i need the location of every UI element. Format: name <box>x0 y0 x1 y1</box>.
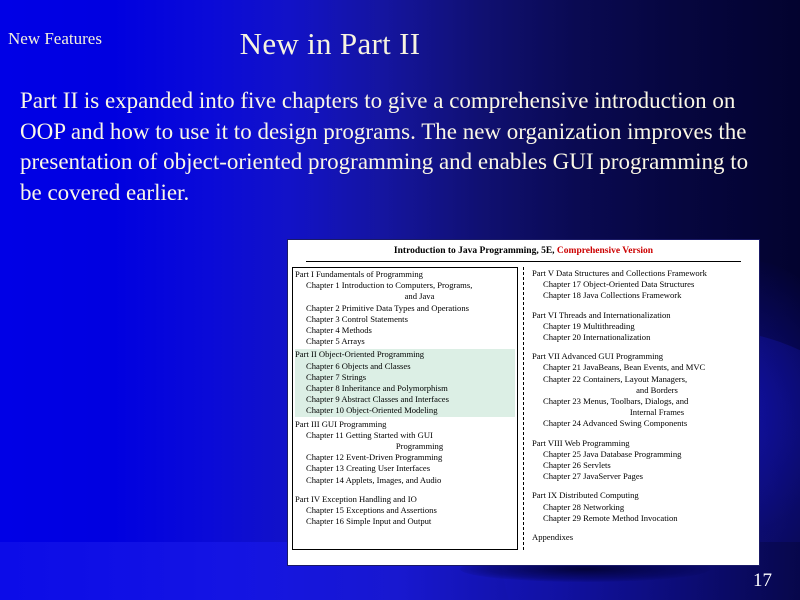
toc-columns: Part I Fundamentals of ProgrammingChapte… <box>288 267 759 550</box>
toc-part-block: Part IX Distributed ComputingChapter 28 … <box>532 490 753 524</box>
toc-chapter-entry: Chapter 18 Java Collections Framework <box>532 290 753 301</box>
toc-chapter-entry: Chapter 16 Simple Input and Output <box>295 516 515 527</box>
toc-chapter-entry: Chapter 15 Exceptions and Assertions <box>295 505 515 516</box>
toc-chapter-entry: Chapter 3 Control Statements <box>295 314 515 325</box>
toc-chapter-label: Chapter 21 JavaBeans, Bean Events, and M… <box>543 362 705 372</box>
toc-chapter-label: Chapter 12 Event-Driven Programming <box>306 452 442 462</box>
toc-chapter-entry: Chapter 25 Java Database Programming <box>532 449 753 460</box>
toc-chapter-label: Chapter 24 Advanced Swing Components <box>543 418 687 428</box>
toc-chapter-label: Chapter 1 Introduction to Computers, Pro… <box>306 280 472 290</box>
toc-chapter-entry: Chapter 7 Strings <box>295 372 515 383</box>
toc-chapter-label: Chapter 17 Object-Oriented Data Structur… <box>543 279 694 289</box>
toc-chapter-entry: Chapter 2 Primitive Data Types and Opera… <box>295 303 515 314</box>
toc-part-title: Part V Data Structures and Collections F… <box>532 268 753 279</box>
toc-heading-accent: Comprehensive Version <box>557 246 653 256</box>
toc-chapter-entry: Chapter 4 Methods <box>295 325 515 336</box>
toc-part-block: Part I Fundamentals of ProgrammingChapte… <box>295 269 515 347</box>
toc-part-block: Part V Data Structures and Collections F… <box>532 268 753 302</box>
toc-right-column: Part V Data Structures and Collections F… <box>528 267 755 550</box>
toc-chapter-entry: Chapter 23 Menus, Toolbars, Dialogs, and… <box>532 396 753 418</box>
toc-chapter-label: Chapter 8 Inheritance and Polymorphism <box>306 383 448 393</box>
toc-chapter-entry: Chapter 5 Arrays <box>295 336 515 347</box>
toc-chapter-entry: Chapter 13 Creating User Interfaces <box>295 463 515 474</box>
toc-chapter-entry: Chapter 24 Advanced Swing Components <box>532 418 753 429</box>
toc-chapter-label: Chapter 25 Java Database Programming <box>543 449 681 459</box>
toc-part-title: Part IX Distributed Computing <box>532 490 753 501</box>
toc-chapter-entry: Chapter 19 Multithreading <box>532 321 753 332</box>
toc-chapter-label: Chapter 5 Arrays <box>306 336 365 346</box>
toc-chapter-label: Chapter 29 Remote Method Invocation <box>543 513 678 523</box>
toc-part-block: Part VII Advanced GUI ProgrammingChapter… <box>532 351 753 429</box>
toc-chapter-label: Chapter 10 Object-Oriented Modeling <box>306 405 438 415</box>
toc-chapter-label: Chapter 20 Internationalization <box>543 332 650 342</box>
toc-chapter-entry: Chapter 17 Object-Oriented Data Structur… <box>532 279 753 290</box>
toc-heading-main: Introduction to Java Programming, 5E, <box>394 246 555 256</box>
toc-chapter-entry: Chapter 10 Object-Oriented Modeling <box>295 405 515 416</box>
toc-chapter-label: Chapter 28 Networking <box>543 502 624 512</box>
toc-heading: Introduction to Java Programming, 5E, Co… <box>288 240 759 260</box>
toc-chapter-label: Chapter 26 Servlets <box>543 460 611 470</box>
toc-part-title: Part VII Advanced GUI Programming <box>532 351 753 362</box>
toc-chapter-entry: Chapter 6 Objects and Classes <box>295 361 515 372</box>
page-number: 17 <box>753 570 772 592</box>
toc-chapter-label: Chapter 14 Applets, Images, and Audio <box>306 475 441 485</box>
toc-chapter-entry: Chapter 8 Inheritance and Polymorphism <box>295 383 515 394</box>
toc-chapter-label: Chapter 9 Abstract Classes and Interface… <box>306 394 449 404</box>
toc-chapter-entry: Chapter 9 Abstract Classes and Interface… <box>295 394 515 405</box>
toc-part-title: Part VIII Web Programming <box>532 438 753 449</box>
toc-chapter-continuation: Programming <box>306 441 515 452</box>
toc-chapter-entry: Chapter 20 Internationalization <box>532 332 753 343</box>
toc-chapter-entry: Chapter 28 Networking <box>532 502 753 513</box>
toc-chapter-continuation: and Java <box>306 291 515 302</box>
toc-chapter-entry: Chapter 22 Containers, Layout Managers,a… <box>532 374 753 396</box>
toc-chapter-label: Chapter 18 Java Collections Framework <box>543 290 681 300</box>
toc-chapter-label: Chapter 4 Methods <box>306 325 372 335</box>
toc-chapter-entry: Chapter 11 Getting Started with GUIProgr… <box>295 430 515 452</box>
toc-chapter-label: Chapter 7 Strings <box>306 372 366 382</box>
toc-chapter-continuation: and Borders <box>543 385 753 396</box>
toc-part-block: Part III GUI ProgrammingChapter 11 Getti… <box>295 419 515 486</box>
toc-chapter-entry: Chapter 29 Remote Method Invocation <box>532 513 753 524</box>
toc-part-title: Appendixes <box>532 532 753 543</box>
toc-part-title: Part II Object-Oriented Programming <box>295 349 515 360</box>
presentation-slide: New Features New in Part II Part II is e… <box>0 0 800 600</box>
toc-chapter-label: Chapter 27 JavaServer Pages <box>543 471 643 481</box>
toc-part-title: Part III GUI Programming <box>295 419 515 430</box>
toc-chapter-entry: Chapter 26 Servlets <box>532 460 753 471</box>
slide-body-text: Part II is expanded into five chapters t… <box>20 86 766 208</box>
toc-chapter-label: Chapter 16 Simple Input and Output <box>306 516 431 526</box>
toc-column-gap <box>518 267 528 550</box>
toc-chapter-label: Chapter 22 Containers, Layout Managers, <box>543 374 687 384</box>
toc-chapter-label: Chapter 11 Getting Started with GUI <box>306 430 433 440</box>
toc-part-block: Part II Object-Oriented ProgrammingChapt… <box>295 349 515 416</box>
toc-part-title: Part VI Threads and Internationalization <box>532 310 753 321</box>
toc-part-block: Part IV Exception Handling and IOChapter… <box>295 494 515 528</box>
toc-chapter-entry: Chapter 21 JavaBeans, Bean Events, and M… <box>532 362 753 373</box>
toc-chapter-entry: Chapter 1 Introduction to Computers, Pro… <box>295 280 515 302</box>
toc-part-title: Part IV Exception Handling and IO <box>295 494 515 505</box>
toc-part-block: Part VIII Web ProgrammingChapter 25 Java… <box>532 438 753 483</box>
page-title: New in Part II <box>0 25 800 63</box>
toc-left-column: Part I Fundamentals of ProgrammingChapte… <box>292 267 518 550</box>
toc-chapter-entry: Chapter 27 JavaServer Pages <box>532 471 753 482</box>
toc-column-divider <box>523 267 524 550</box>
toc-chapter-continuation: Internal Frames <box>543 407 753 418</box>
toc-chapter-label: Chapter 3 Control Statements <box>306 314 408 324</box>
toc-heading-divider <box>306 261 741 262</box>
toc-chapter-label: Chapter 6 Objects and Classes <box>306 361 411 371</box>
toc-part-block: Part VI Threads and Internationalization… <box>532 310 753 344</box>
table-of-contents-figure: Introduction to Java Programming, 5E, Co… <box>287 239 760 566</box>
toc-chapter-label: Chapter 13 Creating User Interfaces <box>306 463 430 473</box>
toc-chapter-entry: Chapter 14 Applets, Images, and Audio <box>295 475 515 486</box>
toc-chapter-label: Chapter 2 Primitive Data Types and Opera… <box>306 303 469 313</box>
toc-part-block: Appendixes <box>532 532 753 543</box>
toc-chapter-label: Chapter 23 Menus, Toolbars, Dialogs, and <box>543 396 688 406</box>
toc-chapter-label: Chapter 19 Multithreading <box>543 321 635 331</box>
toc-part-title: Part I Fundamentals of Programming <box>295 269 515 280</box>
toc-chapter-label: Chapter 15 Exceptions and Assertions <box>306 505 437 515</box>
toc-chapter-entry: Chapter 12 Event-Driven Programming <box>295 452 515 463</box>
